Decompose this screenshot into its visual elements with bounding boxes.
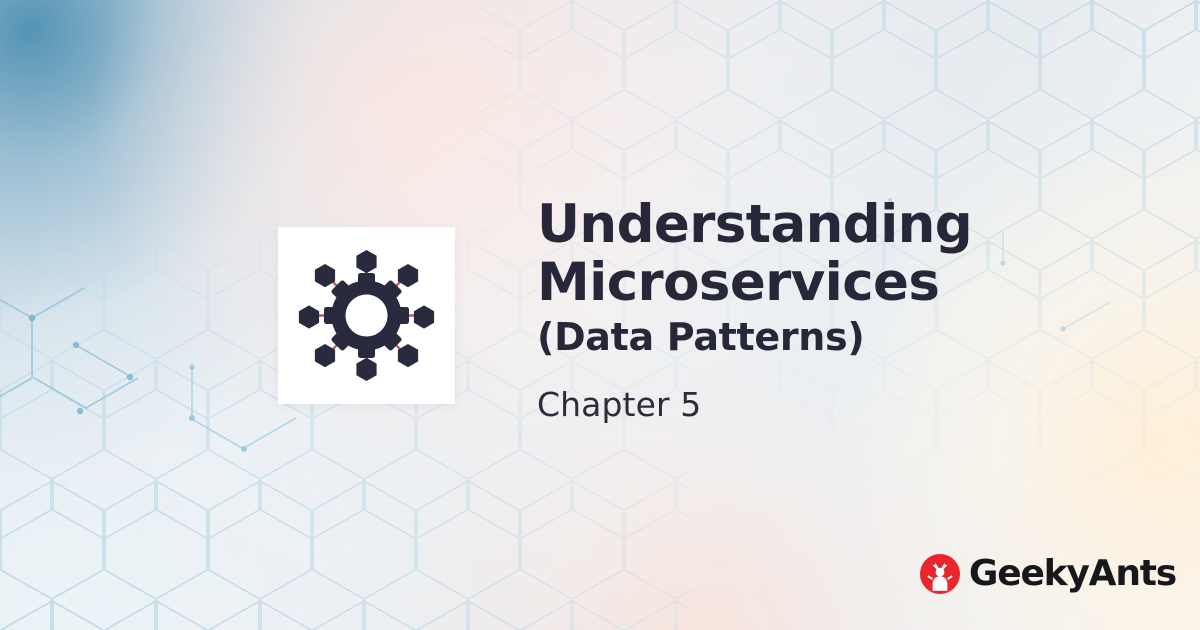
page-subtitle: (Data Patterns): [537, 315, 978, 360]
brand-name: GeekyAnts: [969, 556, 1176, 592]
og-banner: Understanding Microservices (Data Patter…: [0, 0, 1200, 630]
page-title: Understanding Microservices: [537, 196, 978, 313]
geekyants-ant-logo-icon: [920, 554, 960, 594]
brand-lockup: GeekyAnts: [920, 554, 1176, 594]
chapter-label: Chapter 5: [537, 385, 978, 425]
microservices-gear-network-icon: [298, 247, 435, 384]
headline-block: Understanding Microservices (Data Patter…: [537, 196, 978, 425]
banner-content: Understanding Microservices (Data Patter…: [278, 196, 978, 425]
topic-icon-card: [278, 227, 455, 404]
